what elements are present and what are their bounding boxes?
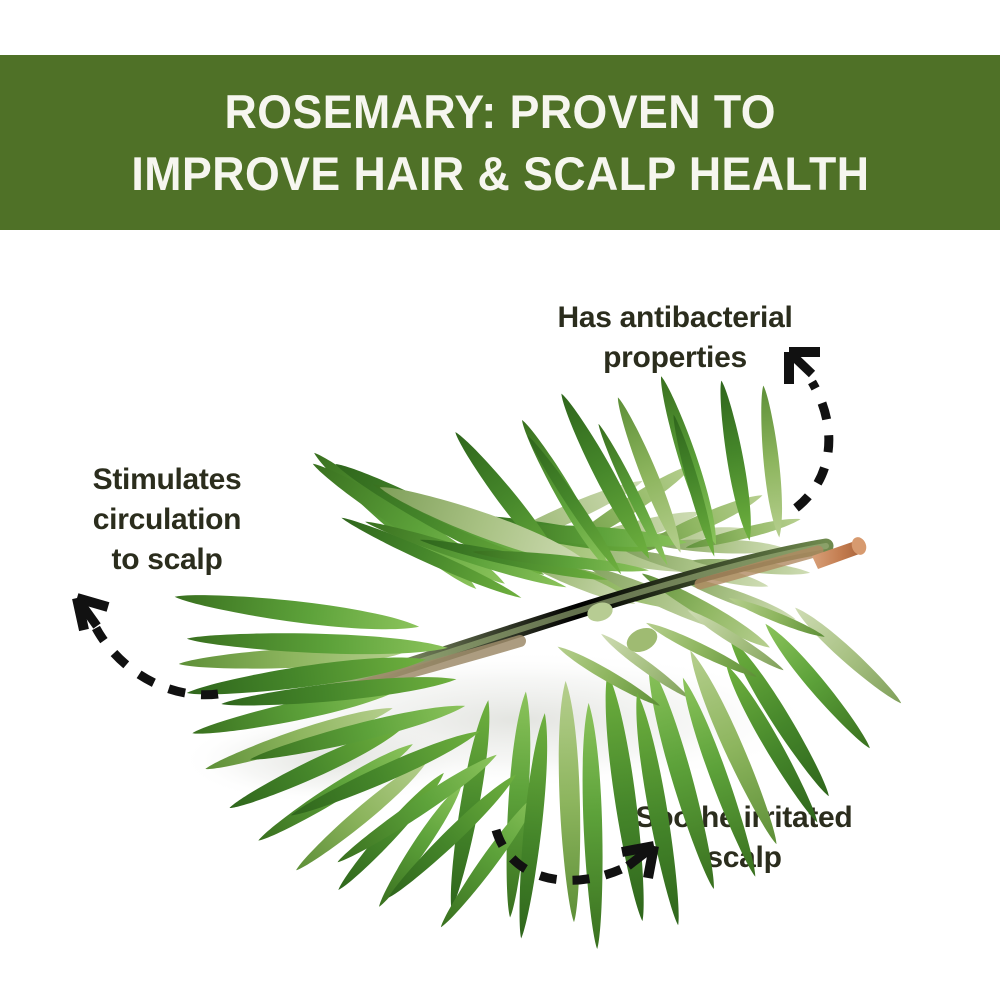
sprig-stem: [330, 535, 869, 690]
callout-antibacterial-label: Has antibacterial properties: [505, 298, 845, 378]
header-banner: ROSEMARY: PROVEN TO IMPROVE HAIR & SCALP…: [0, 55, 1000, 230]
infographic-page: ROSEMARY: PROVEN TO IMPROVE HAIR & SCALP…: [0, 0, 1000, 1000]
sprig-shadow-secondary: [180, 715, 480, 805]
page-title-line-1: ROSEMARY: PROVEN TO: [224, 81, 776, 142]
sprig-back-leaves: [468, 458, 811, 655]
page-title-line-2: IMPROVE HAIR & SCALP HEALTH: [131, 143, 869, 204]
callout-circulation-label: Stimulates circulation to scalp: [48, 460, 286, 580]
callout-soothe-label: Soothe irritated scalp: [594, 798, 894, 878]
stem-cut-tip: [812, 540, 862, 569]
sprig-shadow: [220, 650, 820, 790]
arrowhead-circulation: [77, 598, 108, 630]
arrow-circulation: [77, 598, 218, 695]
